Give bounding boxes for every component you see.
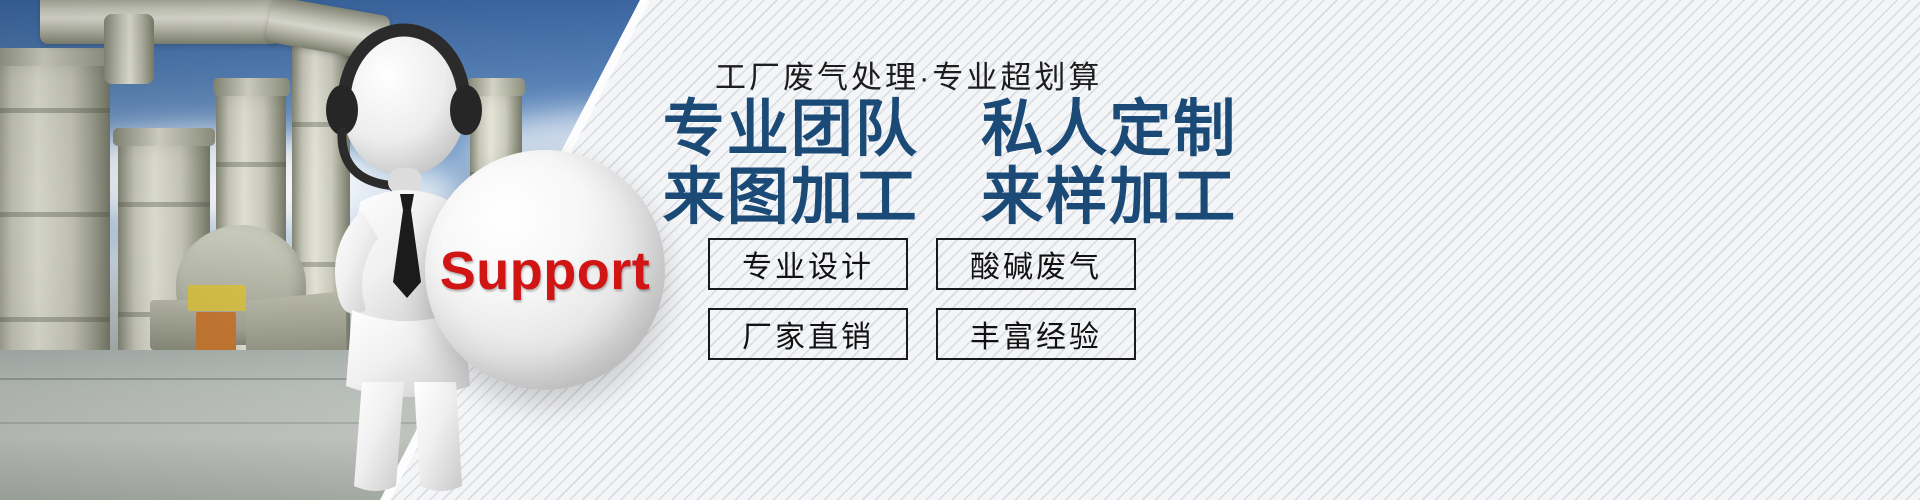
duct-pipe — [104, 14, 154, 84]
duct-pipe — [40, 0, 280, 44]
headline-line2-left: 来图加工 — [663, 163, 919, 232]
feature-tag[interactable]: 酸碱废气 — [936, 238, 1136, 290]
headline-line1-left: 专业团队 — [663, 95, 919, 164]
headline-line2-right: 来样加工 — [981, 163, 1237, 232]
headline-line1-right: 私人定制 — [981, 95, 1237, 164]
banner-content: 工厂废气处理·专业超划算 专业团队 私人定制 来图加工 来样加工 专业设计 酸碱… — [640, 0, 1260, 500]
promo-banner: Support 工厂废气处理·专业超划算 专业团队 私人定制 来图加工 来样加工… — [0, 0, 1920, 500]
feature-tag[interactable]: 丰富经验 — [936, 308, 1136, 360]
banner-tagline: 工厂废气处理·专业超划算 — [715, 52, 1102, 97]
headline-line-2: 来图加工 来样加工 — [640, 164, 1260, 232]
support-label: Support — [425, 240, 665, 302]
headline-line-1: 专业团队 私人定制 — [640, 96, 1260, 164]
banner-headline: 专业团队 私人定制 来图加工 来样加工 — [640, 96, 1260, 232]
feature-tag[interactable]: 专业设计 — [708, 238, 908, 290]
yellow-guard — [188, 285, 246, 311]
feature-tag-list: 专业设计 酸碱废气 厂家直销 丰富经验 — [708, 238, 1178, 360]
scrubber-tower — [0, 62, 110, 392]
feature-tag[interactable]: 厂家直销 — [708, 308, 908, 360]
